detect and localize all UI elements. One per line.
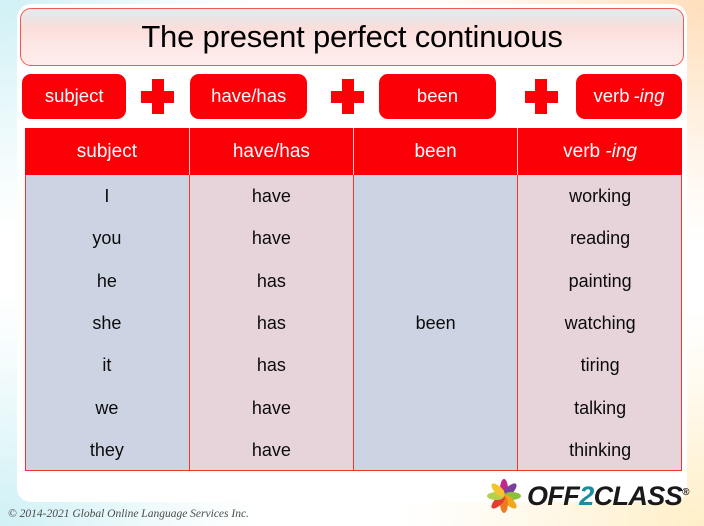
conjugation-table-wrapper: subject have/has been verb -ing I — [25, 128, 682, 471]
cell-aux: have — [189, 217, 353, 259]
formula-chip-subject[interactable]: subject — [22, 74, 126, 119]
table-header: subject have/has been verb -ing — [25, 128, 682, 175]
formula-chip-havehas[interactable]: have/has — [190, 74, 307, 119]
cell-subject: she — [25, 302, 189, 344]
slide-canvas: The present perfect continuous subject h… — [0, 0, 704, 526]
column-header-verbing-label: verb — [563, 141, 600, 162]
cell-subject: they — [25, 429, 189, 471]
cell-subject: I — [25, 175, 189, 217]
column-header-been-label: been — [414, 141, 456, 162]
logo-text-off: OFF — [527, 481, 579, 511]
registered-trademark-icon: ® — [682, 487, 689, 498]
formula-chip-verbing[interactable]: verb-ing — [576, 74, 682, 119]
conjugation-table: subject have/has been verb -ing I — [25, 128, 682, 471]
cell-been-merged: been — [354, 175, 518, 471]
column-header-havehas: have/has — [189, 128, 353, 175]
table-header-row: subject have/has been verb -ing — [25, 128, 682, 175]
cell-verb: reading — [518, 217, 682, 259]
cell-verb: thinking — [518, 429, 682, 471]
off2class-logo[interactable]: OFF2CLASS® — [484, 474, 690, 518]
cell-verb: talking — [518, 386, 682, 428]
cell-verb: painting — [518, 260, 682, 302]
formula-chip-subject-label: subject — [45, 87, 104, 106]
table-row: I have been working — [25, 175, 682, 217]
page-title: The present perfect continuous — [141, 21, 562, 54]
cell-subject: you — [25, 217, 189, 259]
formula-chip-been[interactable]: been — [379, 74, 496, 119]
cell-aux: has — [189, 344, 353, 386]
formula-chip-been-label: been — [417, 87, 458, 106]
plus-icon-2 — [327, 74, 368, 119]
column-header-verbing: verb -ing — [518, 128, 682, 175]
formula-chip-havehas-label: have/has — [211, 87, 286, 106]
cell-subject: we — [25, 386, 189, 428]
column-header-subject-label: subject — [77, 141, 137, 162]
plus-icon-3 — [521, 74, 562, 119]
column-header-subject: subject — [25, 128, 189, 175]
cell-subject: he — [25, 260, 189, 302]
logo-text-two: 2 — [579, 481, 593, 511]
off2class-wordmark: OFF2CLASS® — [527, 483, 689, 510]
table-body: I have been working you have reading he … — [25, 175, 682, 471]
column-header-havehas-label: have/has — [233, 141, 310, 162]
formula-strip: subject have/has been verb-ing — [22, 74, 682, 119]
cell-subject: it — [25, 344, 189, 386]
cell-aux: have — [189, 175, 353, 217]
plus-icon-1 — [137, 74, 178, 119]
cell-verb: working — [518, 175, 682, 217]
formula-chip-verbing-suffix: -ing — [630, 87, 665, 106]
column-header-verbing-suffix: -ing — [605, 141, 637, 162]
logo-text-class: CLASS — [594, 481, 683, 511]
cell-aux: have — [189, 429, 353, 471]
cell-aux: has — [189, 260, 353, 302]
cell-verb: tiring — [518, 344, 682, 386]
slide-title-box: The present perfect continuous — [20, 8, 684, 66]
cell-aux: have — [189, 386, 353, 428]
flower-icon — [484, 476, 524, 516]
cell-verb: watching — [518, 302, 682, 344]
cell-aux: has — [189, 302, 353, 344]
column-header-been: been — [354, 128, 518, 175]
copyright-notice: © 2014-2021 Global Online Language Servi… — [8, 508, 249, 520]
formula-chip-verbing-label: verb — [594, 87, 630, 106]
